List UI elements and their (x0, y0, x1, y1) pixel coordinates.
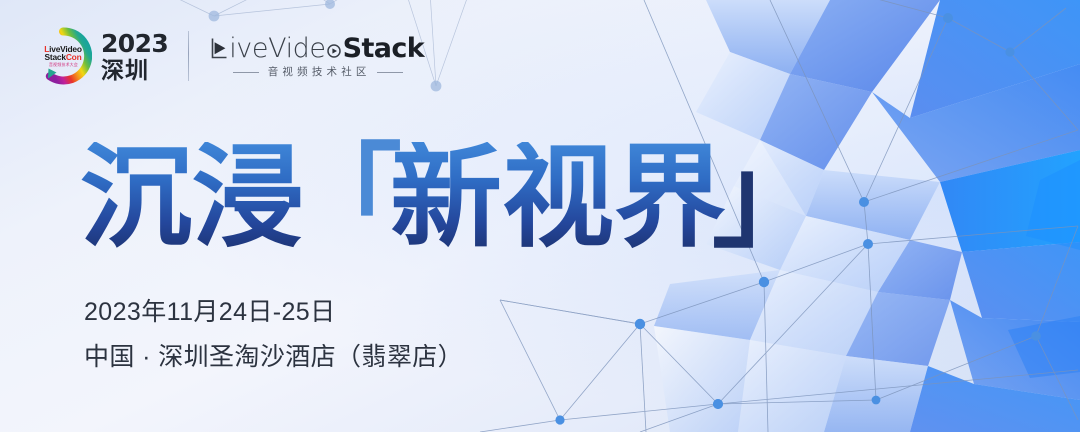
subtitle-dash-right (377, 72, 403, 73)
wordmark-vide: Vide (268, 35, 326, 62)
headline: 沉 浸 「 新 视 界 」 (80, 142, 824, 254)
wordmark-stack: Stack (343, 35, 425, 62)
wordmark-ive: ive (229, 35, 268, 62)
ring-text-stack: Stack (44, 52, 65, 62)
headline-char-4: 视 (502, 142, 614, 254)
event-details: 2023年11月24日-25日 中国 · 深圳圣淘沙酒店（翡翠店） (84, 300, 463, 370)
ring-logo-text: LiveVideo StackCon 音视频技术大会 (34, 27, 92, 85)
headline-char-1: 沉 (80, 142, 192, 254)
wordmark-subtitle: 音视频技术社区 (265, 67, 371, 78)
event-venue: 中国 · 深圳圣淘沙酒店（翡翠店） (84, 345, 463, 370)
logo-lockup: LiveVideo StackCon 音视频技术大会 2023 深圳 (34, 27, 424, 85)
event-date: 2023年11月24日-25日 (84, 300, 463, 325)
circle-play-icon (327, 44, 341, 58)
play-triangle-icon (211, 35, 228, 61)
livevideostack-wordmark: ive Vide Stack 音视频技术社区 (211, 35, 424, 78)
livevideostackcon-ring-logo: LiveVideo StackCon 音视频技术大会 (34, 27, 92, 85)
conference-banner: LiveVideo StackCon 音视频技术大会 2023 深圳 (0, 0, 1080, 432)
headline-char-3: 新 (390, 142, 502, 254)
headline-bracket-close: 」 (712, 142, 824, 254)
ring-text-con: Con (66, 52, 82, 62)
logo-divider (188, 31, 189, 81)
year-city-block: 2023 深圳 (101, 31, 168, 82)
headline-char-2: 浸 (192, 142, 304, 254)
event-city: 深圳 (101, 59, 149, 82)
wordmark-subtitle-row: 音视频技术社区 (233, 67, 403, 78)
subtitle-dash-left (233, 72, 259, 73)
ring-text-subtitle: 音视频技术大会 (49, 63, 78, 67)
headline-bracket-open: 「 (290, 142, 402, 254)
event-year: 2023 (101, 31, 168, 56)
headline-char-5: 界 (614, 142, 726, 254)
